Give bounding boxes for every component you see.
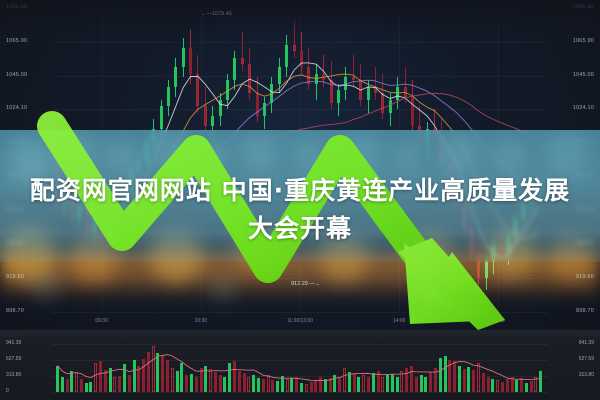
volume-bar bbox=[118, 376, 121, 392]
volume-bar bbox=[176, 371, 179, 392]
volume-bar bbox=[333, 375, 336, 392]
volume-bar bbox=[386, 375, 389, 392]
price-axis-tick-label: 1024.10 bbox=[573, 106, 594, 112]
volume-bar bbox=[190, 374, 193, 392]
volume-bar bbox=[94, 363, 97, 392]
gridline bbox=[52, 392, 548, 393]
volume-bar bbox=[530, 381, 533, 392]
volume-axis-tick-label: 0 bbox=[6, 389, 9, 394]
volume-bar bbox=[515, 380, 518, 392]
candle-body bbox=[226, 80, 229, 99]
candle-body bbox=[381, 93, 384, 112]
bokeh-circle bbox=[420, 272, 448, 300]
volume-bar bbox=[180, 363, 183, 392]
candle-body bbox=[322, 74, 325, 80]
volume-bar bbox=[391, 374, 394, 392]
volume-bar bbox=[310, 382, 313, 392]
volume-bar bbox=[463, 369, 466, 392]
candle-body bbox=[204, 106, 207, 125]
candle-body bbox=[189, 48, 192, 74]
volume-bar bbox=[61, 377, 64, 392]
volume-bar bbox=[353, 374, 356, 392]
volume-bar bbox=[295, 377, 298, 392]
volume-bar bbox=[89, 382, 92, 392]
bokeh-circle bbox=[210, 276, 236, 302]
volume-bar bbox=[444, 356, 447, 392]
volume-bar bbox=[133, 360, 136, 392]
volume-bar bbox=[415, 377, 418, 392]
candle-wick bbox=[323, 55, 324, 87]
volume-bar bbox=[113, 377, 116, 392]
volume-bar bbox=[152, 346, 155, 392]
volume-bar bbox=[467, 367, 470, 392]
candle-wick bbox=[242, 32, 243, 71]
volume-bar bbox=[85, 383, 88, 392]
volume-bar bbox=[362, 375, 365, 392]
volume-bar bbox=[109, 368, 112, 392]
gridline bbox=[52, 360, 548, 361]
volume-bar bbox=[290, 378, 293, 392]
volume-bar bbox=[123, 364, 126, 392]
volume-bar bbox=[487, 377, 490, 392]
volume-bar bbox=[80, 379, 83, 392]
candle-body bbox=[233, 58, 236, 81]
volume-axis-tick-label: 313.80 bbox=[6, 373, 21, 378]
volume-axis-tick-label: 627.59 bbox=[579, 357, 594, 362]
candle-body bbox=[256, 93, 259, 116]
candle-wick bbox=[353, 55, 354, 87]
candle-body bbox=[359, 80, 362, 99]
volume-bar bbox=[472, 370, 475, 392]
volume-bar bbox=[439, 358, 442, 392]
volume-bar bbox=[314, 380, 317, 392]
volume-bar bbox=[434, 368, 437, 392]
price-axis-tick-label: 1086.80 bbox=[573, 5, 594, 11]
volume-bar bbox=[171, 368, 174, 392]
volume-bar bbox=[286, 379, 289, 392]
price-axis-tick-label: 1045.00 bbox=[573, 73, 594, 79]
volume-bar bbox=[324, 379, 327, 392]
volume-bar bbox=[147, 352, 150, 392]
candle-body bbox=[396, 87, 399, 100]
candle-body bbox=[278, 67, 281, 83]
volume-bar bbox=[338, 377, 341, 392]
volume-bar bbox=[166, 360, 169, 392]
volume-bar bbox=[458, 366, 461, 393]
candle-body bbox=[411, 97, 414, 126]
volume-bar bbox=[300, 383, 303, 392]
volume-bar bbox=[247, 377, 250, 392]
volume-bar bbox=[56, 366, 59, 393]
volume-axis-tick-label: 941.39 bbox=[6, 341, 21, 346]
candle-wick bbox=[294, 21, 295, 58]
candle-body bbox=[285, 45, 288, 68]
candle-body bbox=[404, 87, 407, 97]
candle-body bbox=[293, 45, 296, 51]
candle-body bbox=[174, 67, 177, 86]
volume-bar bbox=[214, 372, 217, 392]
volume-bar bbox=[252, 375, 255, 392]
volume-bar bbox=[305, 384, 308, 392]
candle-body bbox=[248, 64, 251, 93]
volume-bar bbox=[534, 377, 537, 392]
volume-bar bbox=[276, 381, 279, 392]
volume-bar bbox=[200, 368, 203, 392]
price-axis-tick-label: 1045.00 bbox=[6, 73, 27, 79]
volume-bar bbox=[238, 371, 241, 392]
candle-wick bbox=[405, 67, 406, 103]
volume-bar bbox=[448, 360, 451, 392]
volume-bar bbox=[381, 377, 384, 392]
candle-body bbox=[263, 103, 266, 116]
volume-bar bbox=[195, 377, 198, 392]
volume-bar bbox=[262, 379, 265, 392]
candle-body bbox=[167, 87, 170, 106]
candle-body bbox=[330, 80, 333, 103]
volume-bar bbox=[66, 379, 69, 392]
price-axis-tick-label: 1086.80 bbox=[6, 5, 27, 11]
bokeh-circle bbox=[30, 270, 60, 300]
volume-bar bbox=[99, 361, 102, 392]
volume-bar bbox=[271, 380, 274, 392]
volume-axis-tick-label: 627.59 bbox=[6, 357, 21, 362]
candle-body bbox=[211, 116, 214, 126]
volume-bar bbox=[372, 373, 375, 392]
volume-bar bbox=[228, 363, 231, 392]
volume-bar bbox=[142, 359, 145, 392]
candle-body bbox=[374, 87, 377, 93]
price-axis-tick-label: 1065.90 bbox=[573, 39, 594, 45]
volume-bar bbox=[424, 377, 427, 392]
volume-bar bbox=[267, 375, 270, 392]
volume-bar bbox=[75, 372, 78, 392]
volume-bar bbox=[223, 377, 226, 392]
volume-bar bbox=[520, 378, 523, 392]
volume-bar bbox=[233, 361, 236, 392]
volume-bar bbox=[367, 377, 370, 392]
candle-body bbox=[270, 84, 273, 103]
volume-bar bbox=[491, 379, 494, 392]
volume-bar bbox=[410, 366, 413, 393]
volume-bar bbox=[357, 377, 360, 392]
volume-bar bbox=[204, 366, 207, 393]
volume-bar bbox=[281, 376, 284, 392]
volume-bar bbox=[429, 372, 432, 392]
volume-bar bbox=[329, 378, 332, 392]
candle-body bbox=[307, 67, 310, 83]
volume-bar bbox=[156, 353, 159, 392]
candle-body bbox=[219, 100, 222, 116]
volume-bar bbox=[161, 356, 164, 392]
volume-bar bbox=[477, 363, 480, 392]
volume-bar bbox=[525, 383, 528, 392]
screenshot-root: 1086.801065.901045.001024.101003.20982.3… bbox=[0, 0, 600, 400]
volume-bar bbox=[70, 371, 73, 392]
price-axis-tick-label: 1024.10 bbox=[6, 106, 27, 112]
candle-body bbox=[352, 77, 355, 80]
candle-body bbox=[389, 100, 392, 113]
volume-bar bbox=[400, 371, 403, 392]
candle-body bbox=[367, 87, 370, 100]
candle-body bbox=[182, 48, 185, 67]
volume-bar bbox=[453, 361, 456, 392]
volume-bar bbox=[104, 370, 107, 392]
volume-bar bbox=[243, 373, 246, 392]
volume-bar bbox=[219, 375, 222, 392]
volume-bar bbox=[396, 377, 399, 392]
candle-body bbox=[344, 77, 347, 90]
volume-bar bbox=[506, 379, 509, 392]
volume-bar bbox=[496, 380, 499, 392]
volume-bar bbox=[257, 378, 260, 392]
volume-bar bbox=[185, 375, 188, 392]
volume-bar bbox=[501, 382, 504, 392]
volume-bar bbox=[319, 377, 322, 392]
volume-bar bbox=[405, 368, 408, 392]
volume-bar bbox=[511, 377, 514, 392]
candle-body bbox=[315, 74, 318, 84]
volume-bar bbox=[128, 375, 131, 392]
candle-wick bbox=[375, 67, 376, 99]
volume-axis-tick-label: 313.80 bbox=[579, 373, 594, 378]
volume-axis-tick-label: 941.39 bbox=[579, 341, 594, 346]
volume-bar bbox=[539, 371, 542, 392]
candle-body bbox=[300, 51, 303, 67]
gridline bbox=[52, 344, 548, 345]
volume-bar bbox=[482, 373, 485, 392]
volume-bar bbox=[348, 372, 351, 392]
volume-bar bbox=[377, 371, 380, 392]
price-axis-tick-label: 1065.90 bbox=[6, 39, 27, 45]
volume-bar bbox=[137, 366, 140, 393]
volume-bar bbox=[343, 368, 346, 392]
candle-body bbox=[196, 74, 199, 106]
page-title: 配资网官网网站 中国·重庆黄连产业高质量发展大会开幕 bbox=[20, 172, 580, 248]
candle-body bbox=[160, 106, 163, 129]
volume-bar bbox=[420, 375, 423, 392]
candle-body bbox=[241, 58, 244, 64]
price-annotation: ←—1079.45 bbox=[201, 11, 232, 17]
volume-chart-panel: 941.39627.59313.800 941.39627.59313.80 bbox=[0, 330, 600, 400]
candle-body bbox=[337, 90, 340, 103]
volume-bar bbox=[209, 369, 212, 392]
